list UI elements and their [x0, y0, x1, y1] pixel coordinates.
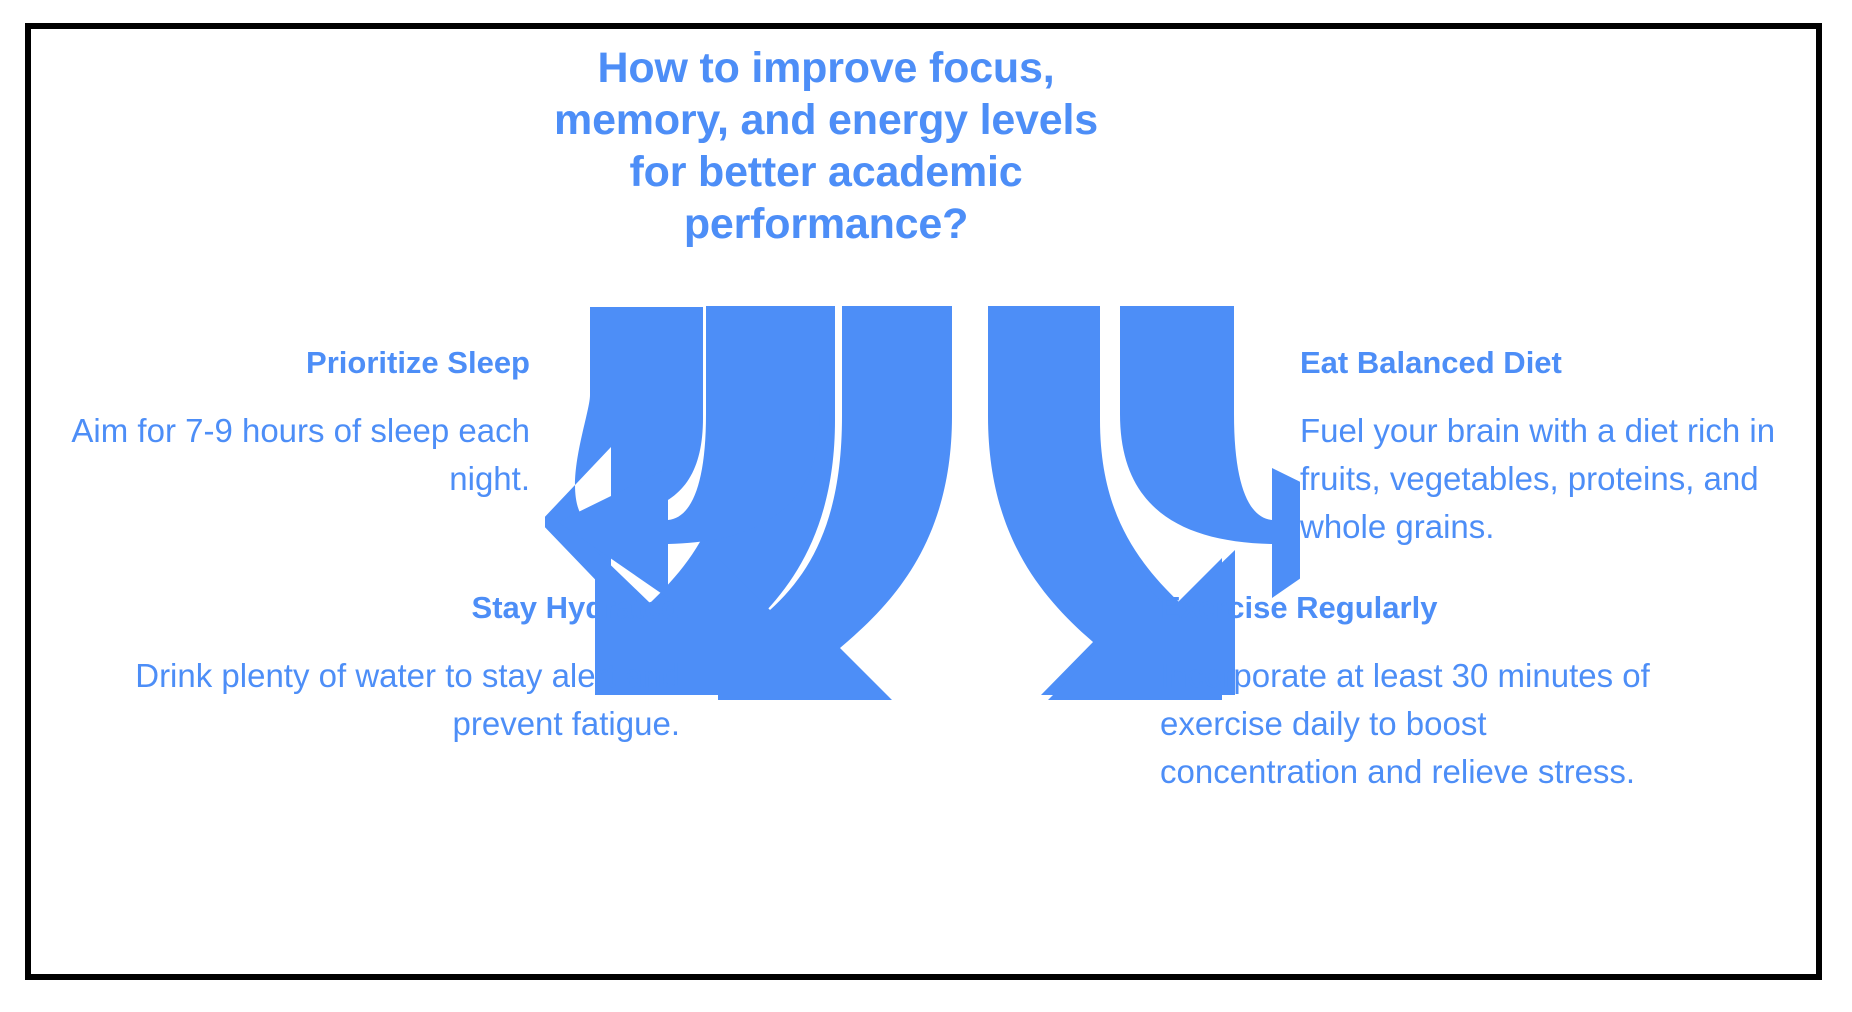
node-stay-hydrated: Stay Hydrated Drink plenty of water to s…	[100, 590, 680, 748]
title-line-2: memory, and energy levels	[476, 94, 1176, 146]
node-exercise-regularly: Exercise Regularly Incorporate at least …	[1160, 590, 1680, 796]
title-line-1: How to improve focus,	[476, 42, 1176, 94]
title-line-3: for better academic	[476, 146, 1176, 198]
arrow-left-body	[558, 306, 820, 598]
node-description-eat-balanced-diet: Fuel your brain with a diet rich in frui…	[1300, 407, 1820, 551]
infographic-canvas: How to improve focus, memory, and energy…	[0, 0, 1852, 1012]
page-title: How to improve focus, memory, and energy…	[476, 42, 1176, 250]
node-label-prioritize-sleep: Prioritize Sleep	[30, 345, 530, 381]
node-description-exercise-regularly: Incorporate at least 30 minutes of exerc…	[1160, 652, 1680, 796]
title-line-4: performance?	[476, 198, 1176, 250]
node-description-prioritize-sleep: Aim for 7-9 hours of sleep each night.	[30, 407, 530, 503]
node-description-stay-hydrated: Drink plenty of water to stay alert and …	[100, 652, 680, 748]
node-label-exercise-regularly: Exercise Regularly	[1160, 590, 1680, 626]
node-prioritize-sleep: Prioritize Sleep Aim for 7-9 hours of sl…	[30, 345, 530, 503]
node-label-stay-hydrated: Stay Hydrated	[100, 590, 680, 626]
arrow-right-body	[1120, 306, 1300, 598]
node-eat-balanced-diet: Eat Balanced Diet Fuel your brain with a…	[1300, 345, 1820, 551]
node-label-eat-balanced-diet: Eat Balanced Diet	[1300, 345, 1820, 381]
